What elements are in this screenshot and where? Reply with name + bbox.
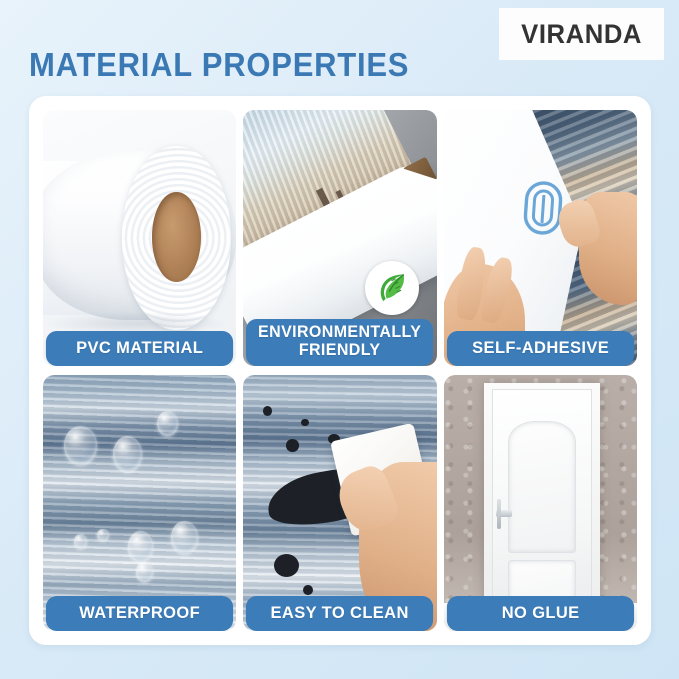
card-label-easy-to-clean: EASY TO CLEAN (246, 596, 434, 631)
water-droplet (136, 562, 153, 582)
stain-mark (274, 554, 299, 577)
card-label-line: ENVIRONMENTALLY (258, 323, 421, 341)
water-droplet (74, 534, 88, 549)
card-label-environmentally-friendly: ENVIRONMENTALLYFRIENDLY (246, 319, 434, 366)
card-label-self-adhesive: SELF-ADHESIVE (447, 331, 635, 366)
water-droplet (128, 531, 153, 562)
pvc-roll-core-shape (152, 192, 200, 282)
waterproof-image (43, 375, 236, 631)
feature-card-environmentally-friendly: ENVIRONMENTALLYFRIENDLY (243, 110, 436, 366)
leaf-icon (374, 270, 410, 306)
page-title: MATERIAL PROPERTIES (29, 46, 409, 84)
eco-badge (365, 261, 419, 315)
feature-panel: PVC MATERIAL (29, 96, 651, 645)
feature-card-pvc-material: PVC MATERIAL (43, 110, 236, 366)
stain-mark (301, 419, 309, 427)
feature-card-self-adhesive: SELF-ADHESIVE (444, 110, 637, 366)
water-droplet (157, 411, 178, 437)
card-label-line: FRIENDLY (299, 341, 381, 359)
brand-name: VIRANDA (521, 19, 642, 50)
stain-mark (286, 439, 300, 452)
water-droplet (113, 436, 142, 472)
card-label-pvc-material: PVC MATERIAL (46, 331, 234, 366)
brand-logo: VIRANDA (499, 8, 664, 60)
stain-mark (303, 585, 313, 595)
card-label-no-glue: NO GLUE (447, 596, 635, 631)
door-upper-panel-shape (508, 421, 576, 553)
door-frame-shape (484, 383, 600, 631)
pvc-roll-image (43, 110, 236, 366)
stain-mark (263, 406, 273, 416)
water-droplet (97, 529, 109, 542)
feature-card-easy-to-clean: EASY TO CLEAN (243, 375, 436, 631)
infographic-page: VIRANDA MATERIAL PROPERTIES PVC MATERIAL (0, 0, 679, 679)
water-droplet (171, 521, 198, 554)
water-droplet (64, 426, 97, 464)
feature-grid: PVC MATERIAL (43, 110, 637, 631)
feature-card-waterproof: WATERPROOF (43, 375, 236, 631)
card-label-waterproof: WATERPROOF (46, 596, 234, 631)
door-handle-shape (496, 510, 513, 517)
self-adhesive-image (444, 110, 637, 366)
paperclip-icon (519, 178, 567, 239)
easy-to-clean-image (243, 375, 436, 631)
right-hand-shape (579, 192, 637, 305)
no-glue-door-image (444, 375, 637, 631)
feature-card-no-glue: NO GLUE (444, 375, 637, 631)
